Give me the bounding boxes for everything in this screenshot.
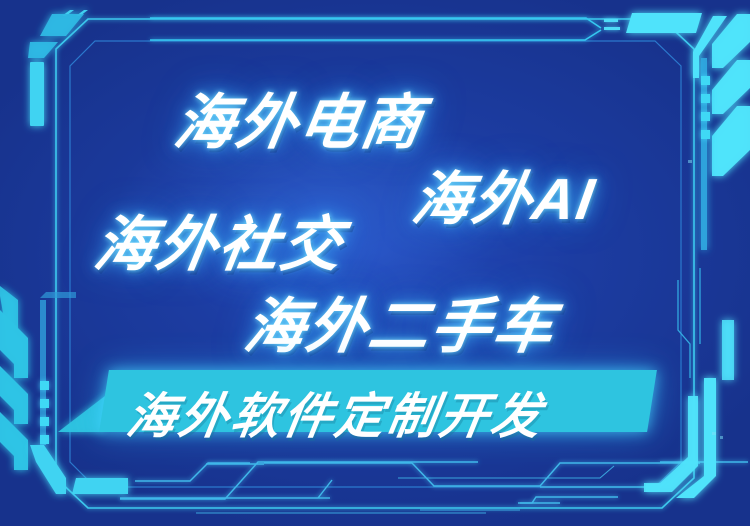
headline-overseas-used-car: 海外二手车	[239, 278, 563, 365]
headline-overseas-ecommerce: 海外电商	[169, 74, 431, 161]
banner-label: 海外软件定制开发	[122, 377, 549, 448]
headline-overseas-ai: 海外AI	[407, 152, 602, 236]
tech-promo-poster: 海外电商 海外AI 海外社交 海外二手车 海外软件定制开发	[0, 0, 750, 526]
headline-overseas-social: 海外社交	[89, 196, 351, 283]
